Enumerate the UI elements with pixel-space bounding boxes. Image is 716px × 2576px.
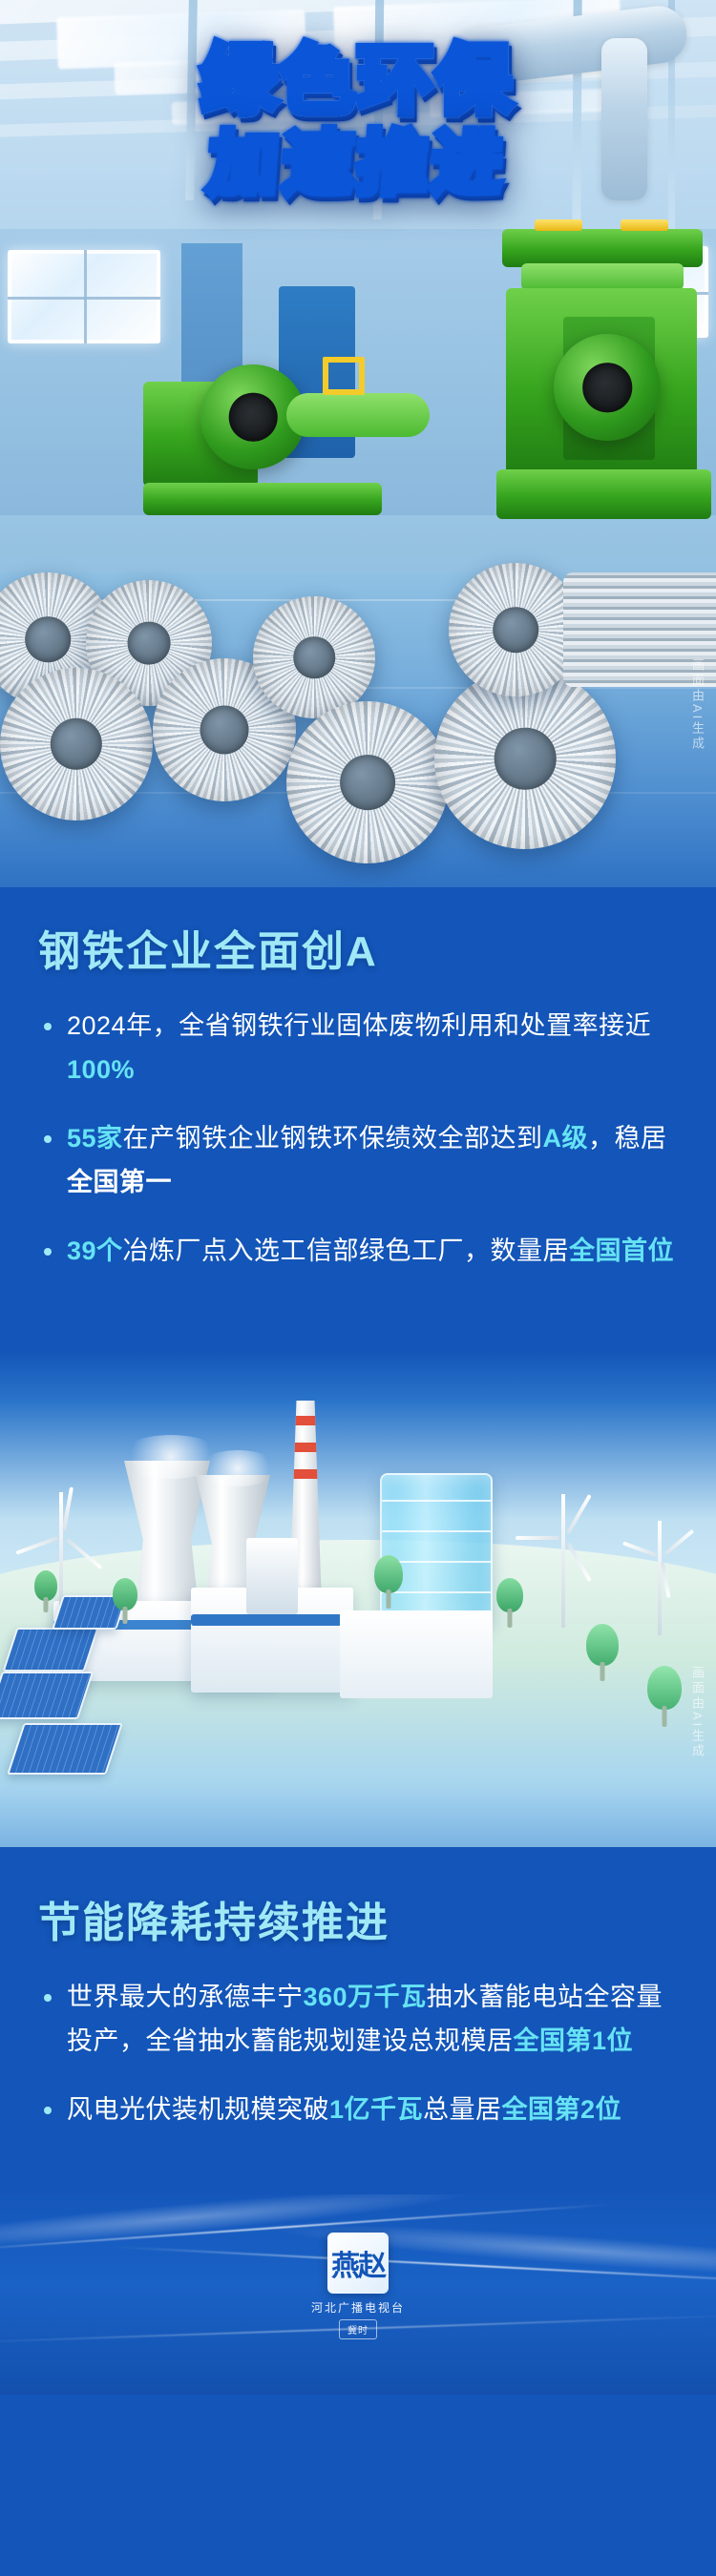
bullet-part-highlight: A级: [543, 1124, 589, 1153]
bullet-part-highlight: 全国首位: [569, 1236, 674, 1265]
energy-plant-illustration: 画面由AI生成: [0, 1351, 716, 1847]
solar-panel: [7, 1723, 123, 1775]
title-line-2: 加速推进: [0, 126, 716, 202]
logo-mark-icon: 燕赵: [327, 2233, 389, 2294]
plant-building-tall: [246, 1538, 298, 1614]
bullet-part: ，稳居: [588, 1124, 667, 1153]
bullet-part-highlight: 全国第2位: [502, 2095, 622, 2124]
steam-cloud: [197, 1450, 279, 1486]
bullet-part: 世界最大的承德丰宁: [67, 1983, 304, 2011]
bullet-part-highlight: 100%: [67, 1055, 135, 1084]
section-heading-energy: 节能降耗持续推进: [38, 1897, 678, 1950]
bullet-item: 55家在产钢铁企业钢铁环保绩效全部达到A级，稳居全国第一: [38, 1116, 678, 1204]
bullet-item: 39个冶炼厂点入选工信部绿色工厂，数量居全国首位: [38, 1229, 678, 1273]
logo-text: 燕赵: [331, 2242, 385, 2284]
bullet-part: 2024年，全省钢铁行业固体废物利用和处置率接近: [67, 1011, 651, 1040]
bullet-item: 2024年，全省钢铁行业固体废物利用和处置率接近100%: [38, 1004, 678, 1091]
steel-coil: [253, 596, 375, 718]
bullet-item: 世界最大的承德丰宁360万千瓦抽水蓄能电站全容量投产，全省抽水蓄能规划建设总规模…: [38, 1975, 678, 2063]
ai-generated-watermark: 画面由AI生成: [688, 1666, 706, 1759]
green-coiler-machine: [143, 343, 430, 525]
poster-title: 绿色环保 加速推进: [0, 40, 716, 202]
bullet-list-energy: 世界最大的承德丰宁360万千瓦抽水蓄能电站全容量投产，全省抽水蓄能规划建设总规模…: [38, 1975, 678, 2131]
factory-window-left: [8, 250, 160, 343]
ai-generated-watermark: 画面由AI生成: [688, 658, 706, 752]
hero-factory-image: 绿色环保 加速推进 画面由AI生成: [0, 0, 716, 887]
bullet-part-highlight: 360万千瓦: [304, 1983, 427, 2011]
steel-coil: [449, 563, 582, 696]
section-energy: 节能降耗持续推进 世界最大的承德丰宁360万千瓦抽水蓄能电站全容量投产，全省抽水…: [0, 1847, 716, 2194]
tree: [647, 1666, 682, 1727]
bullet-part-highlight: 39个: [67, 1236, 123, 1265]
green-rolling-machine: [496, 229, 716, 544]
tree: [586, 1624, 619, 1681]
tree: [374, 1555, 403, 1609]
tree: [34, 1570, 57, 1612]
bullet-part-highlight: 全国第1位: [514, 2026, 634, 2055]
section-steel: 钢铁企业全面创A 2024年，全省钢铁行业固体废物利用和处置率接近100% 55…: [0, 887, 716, 1351]
bullet-part: 在产钢铁企业钢铁环保绩效全部达到: [123, 1124, 543, 1153]
logo-tag: 冀时: [339, 2319, 377, 2339]
wind-turbine: [636, 1521, 684, 1635]
tree: [496, 1578, 523, 1628]
bullet-list-steel: 2024年，全省钢铁行业固体废物利用和处置率接近100% 55家在产钢铁企业钢铁…: [38, 1004, 678, 1273]
steel-coil: [286, 701, 449, 863]
wind-turbine: [535, 1494, 592, 1628]
plant-building: [340, 1610, 493, 1698]
bullet-part-highlight: 55家: [67, 1124, 123, 1153]
section-heading-steel: 钢铁企业全面创A: [38, 925, 678, 979]
solar-panel: [3, 1628, 99, 1672]
logo-subtitle: 河北广播电视台: [311, 2299, 405, 2316]
footer-brand-bar: 燕赵 河北广播电视台 冀时: [0, 2194, 716, 2395]
bullet-part: 总量居: [423, 2095, 502, 2124]
bullet-part-highlight: 1亿千瓦: [329, 2095, 423, 2124]
bullet-part-white-bold: 全国第一: [67, 1168, 172, 1196]
title-line-1: 绿色环保: [0, 40, 716, 120]
bullet-part: 冶炼厂点入选工信部绿色工厂，数量居: [123, 1236, 570, 1265]
solar-panel: [0, 1672, 94, 1719]
bullet-part: 风电光伏装机规模突破: [67, 2095, 329, 2124]
steel-coil: [0, 668, 153, 821]
tree: [113, 1578, 137, 1624]
poster-root: 绿色环保 加速推进 画面由AI生成 钢铁企业全面创A 2024年，全省钢铁行业固…: [0, 0, 716, 2576]
bullet-item: 风电光伏装机规模突破1亿千瓦总量居全国第2位: [38, 2088, 678, 2131]
plant-building-band: [191, 1614, 353, 1626]
channel-logo[interactable]: 燕赵 河北广播电视台 冀时: [311, 2233, 405, 2339]
